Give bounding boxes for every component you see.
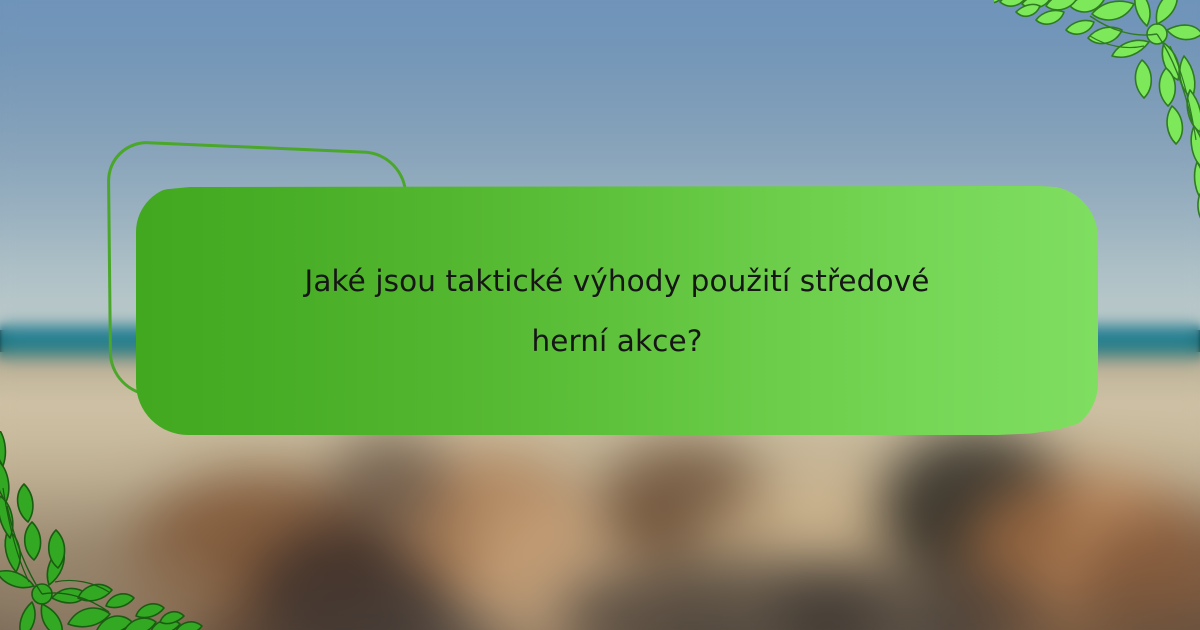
screenshot-canvas: Jaké jsou taktické výhody použití středo…: [0, 0, 1200, 630]
question-line-1: Jaké jsou taktické výhody použití středo…: [206, 251, 1028, 311]
question-line-2: herní akce?: [206, 311, 1028, 371]
question-text-block: Jaké jsou taktické výhody použití středo…: [136, 186, 1098, 435]
